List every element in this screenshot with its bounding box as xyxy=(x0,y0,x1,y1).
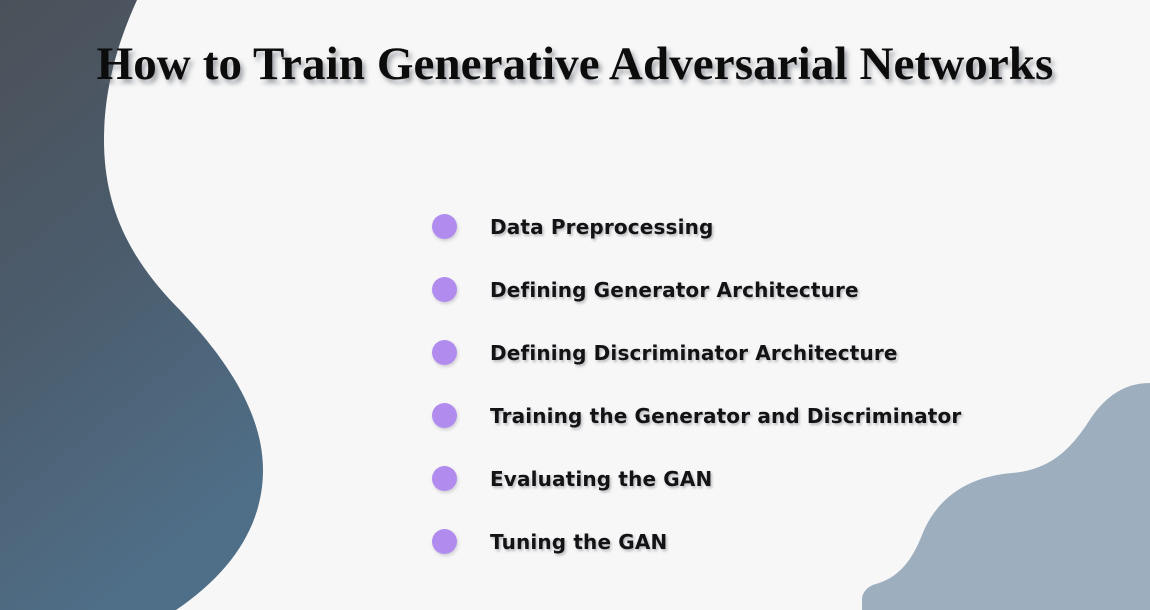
bullet-dot-icon xyxy=(432,466,457,491)
list-item-label: Data Preprocessing xyxy=(490,215,713,239)
list-item-label: Evaluating the GAN xyxy=(490,467,712,491)
list-item[interactable]: Evaluating the GAN xyxy=(432,460,961,497)
list-item[interactable]: Data Preprocessing xyxy=(432,208,961,245)
list-item[interactable]: Defining Generator Architecture xyxy=(432,271,961,308)
left-wave-shape xyxy=(0,0,263,610)
list-item-label: Training the Generator and Discriminator xyxy=(490,404,961,428)
list-item-label: Tuning the GAN xyxy=(490,530,667,554)
list-item[interactable]: Tuning the GAN xyxy=(432,523,961,560)
list-item[interactable]: Training the Generator and Discriminator xyxy=(432,397,961,434)
bullet-dot-icon xyxy=(432,340,457,365)
bullet-dot-icon xyxy=(432,214,457,239)
list-item-label: Defining Generator Architecture xyxy=(490,278,859,302)
list-item[interactable]: Defining Discriminator Architecture xyxy=(432,334,961,371)
title-area: How to Train Generative Adversarial Netw… xyxy=(0,38,1150,91)
bullet-dot-icon xyxy=(432,529,457,554)
slide-canvas: How to Train Generative Adversarial Netw… xyxy=(0,0,1150,610)
bullet-dot-icon xyxy=(432,403,457,428)
bullet-dot-icon xyxy=(432,277,457,302)
list-item-label: Defining Discriminator Architecture xyxy=(490,341,898,365)
page-title: How to Train Generative Adversarial Netw… xyxy=(97,38,1054,91)
bullet-list: Data Preprocessing Defining Generator Ar… xyxy=(432,208,961,586)
